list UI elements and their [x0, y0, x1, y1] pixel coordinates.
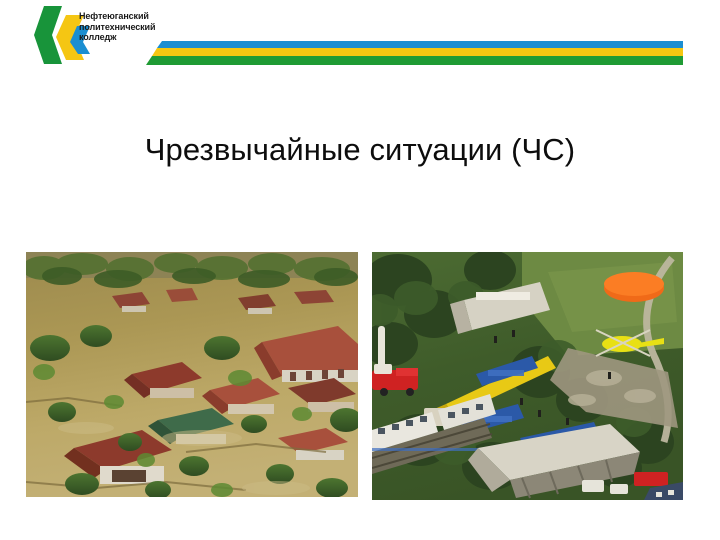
slide-header: Нефтеюганский политехнический колледж — [0, 0, 720, 86]
green-stripe — [146, 56, 683, 65]
college-logo-text: Нефтеюганский политехнический колледж — [79, 11, 189, 43]
logo-line-1: Нефтеюганский — [79, 11, 189, 22]
page-title: Чрезвычайные ситуации (ЧС) — [0, 132, 720, 168]
tricolor-stripe-ribbon-icon — [146, 41, 683, 65]
logo-line-2: политехнический — [79, 22, 189, 33]
flood-photo — [26, 252, 358, 497]
train-crash-photo — [372, 252, 683, 500]
yellow-stripe — [152, 48, 683, 56]
picture-row — [26, 252, 683, 500]
blue-stripe — [157, 41, 683, 48]
